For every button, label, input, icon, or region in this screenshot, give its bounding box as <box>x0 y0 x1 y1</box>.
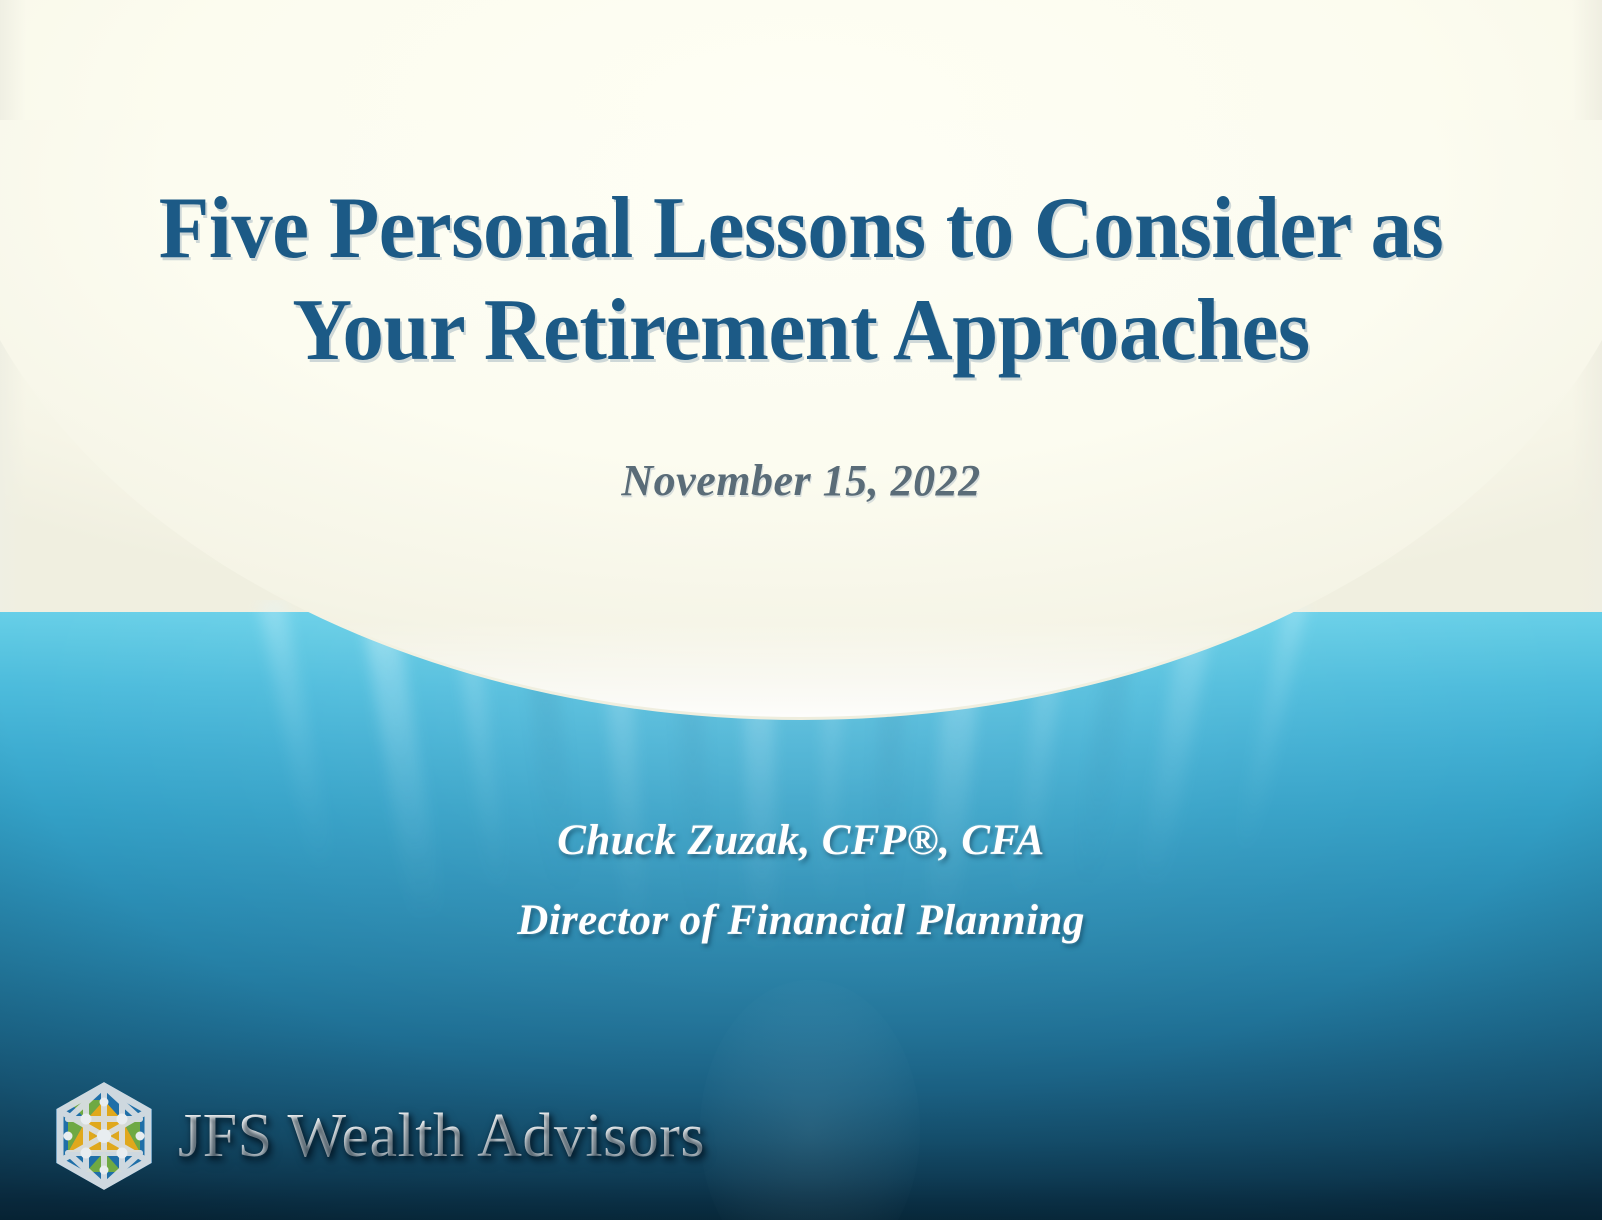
jfs-hexagon-snowflake-icon <box>52 1080 156 1192</box>
presentation-title-slide: Five Personal Lessons to Consider as You… <box>0 0 1602 1220</box>
slide-title: Five Personal Lessons to Consider as You… <box>0 178 1602 382</box>
presenter-name: Chuck Zuzak, CFP®, CFA <box>0 816 1602 865</box>
brand-logo: JFS Wealth Advisors <box>52 1080 705 1192</box>
presenter-role: Director of Financial Planning <box>0 896 1602 945</box>
slide-title-line-2: Your Retirement Approaches <box>48 280 1554 382</box>
slide-title-line-1: Five Personal Lessons to Consider as <box>48 178 1554 280</box>
slide-date: November 15, 2022 <box>0 455 1602 506</box>
brand-wordmark: JFS Wealth Advisors <box>178 1101 705 1172</box>
